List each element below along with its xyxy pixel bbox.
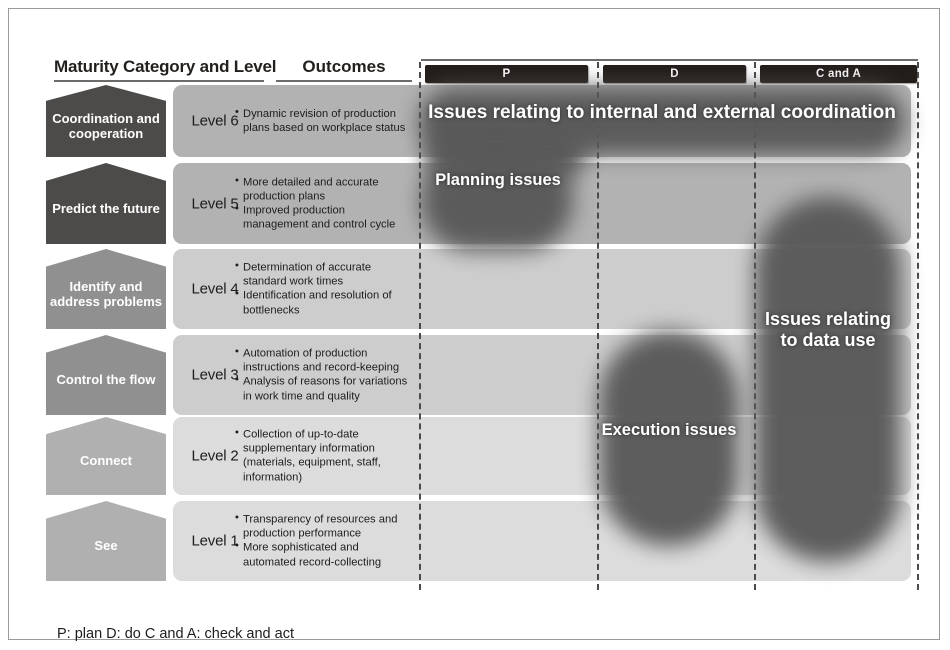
outcome-bullet-list: Determination of accurate standard work … xyxy=(235,261,410,318)
maturity-category-label: Coordination and cooperation xyxy=(46,111,166,142)
issue-blob-label: Execution issues xyxy=(601,421,737,440)
maturity-header-rule xyxy=(54,80,264,82)
outcome-bullet: More detailed and accurate production pl… xyxy=(235,175,410,203)
diagram-frame: Maturity Category and Level Outcomes P D… xyxy=(8,8,940,640)
outcome-bullet-list: Transparency of resources and production… xyxy=(235,513,410,570)
pdca-chip-d: D xyxy=(603,65,746,83)
maturity-category-chevron: Predict the future xyxy=(46,163,166,244)
issue-blob-shape xyxy=(755,197,901,562)
outcome-bullet-list: Dynamic revision of production plans bas… xyxy=(235,107,410,135)
outcome-bullet: Automation of production instructions an… xyxy=(235,347,410,375)
maturity-category-chevron: See xyxy=(46,501,166,581)
outcome-bullet: Transparency of resources and production… xyxy=(235,513,410,541)
maturity-category-label: See xyxy=(94,538,117,553)
outcome-bullet-list: More detailed and accurate production pl… xyxy=(235,175,410,232)
maturity-category-label: Identify and address problems xyxy=(46,279,166,310)
outcome-bullet: Collection of up-to-date supplementary i… xyxy=(235,428,410,485)
pdca-header-rule xyxy=(421,59,918,61)
outcome-bullet: Dynamic revision of production plans bas… xyxy=(235,107,410,135)
issue-blob-label: Issues relating to internal and external… xyxy=(419,102,905,124)
maturity-category-label: Connect xyxy=(80,453,132,468)
legend-footnote: P: plan D: do C and A: check and act xyxy=(57,626,294,642)
outcome-bullet-list: Automation of production instructions an… xyxy=(235,347,410,404)
maturity-category-chevron: Coordination and cooperation xyxy=(46,85,166,157)
pdca-chip-p: P xyxy=(425,65,588,83)
maturity-category-chevron: Control the flow xyxy=(46,335,166,415)
column-header-maturity: Maturity Category and Level xyxy=(54,57,269,77)
maturity-category-label: Control the flow xyxy=(57,372,156,387)
maturity-category-label: Predict the future xyxy=(52,201,160,216)
outcome-bullet: Improved production management and contr… xyxy=(235,204,410,232)
maturity-category-chevron: Identify and address problems xyxy=(46,249,166,329)
issue-blob-shape xyxy=(421,151,573,251)
pdca-chip-c-and-a: C and A xyxy=(760,65,917,83)
column-header-outcomes: Outcomes xyxy=(274,57,414,77)
outcome-bullet: Analysis of reasons for variations in wo… xyxy=(235,375,410,403)
outcome-bullet: Identification and resolution of bottlen… xyxy=(235,289,410,317)
column-divider-ca-right xyxy=(917,62,919,590)
outcome-bullet-list: Collection of up-to-date supplementary i… xyxy=(235,428,410,485)
outcome-bullet: Determination of accurate standard work … xyxy=(235,261,410,289)
outcomes-header-rule xyxy=(276,80,412,82)
issue-blob-label: Planning issues xyxy=(427,171,569,190)
issue-blob-label: Issues relating to data use xyxy=(759,309,897,351)
outcome-bullet: More sophisticated and automated record-… xyxy=(235,541,410,569)
column-divider-p-left xyxy=(419,62,421,590)
maturity-category-chevron: Connect xyxy=(46,417,166,495)
